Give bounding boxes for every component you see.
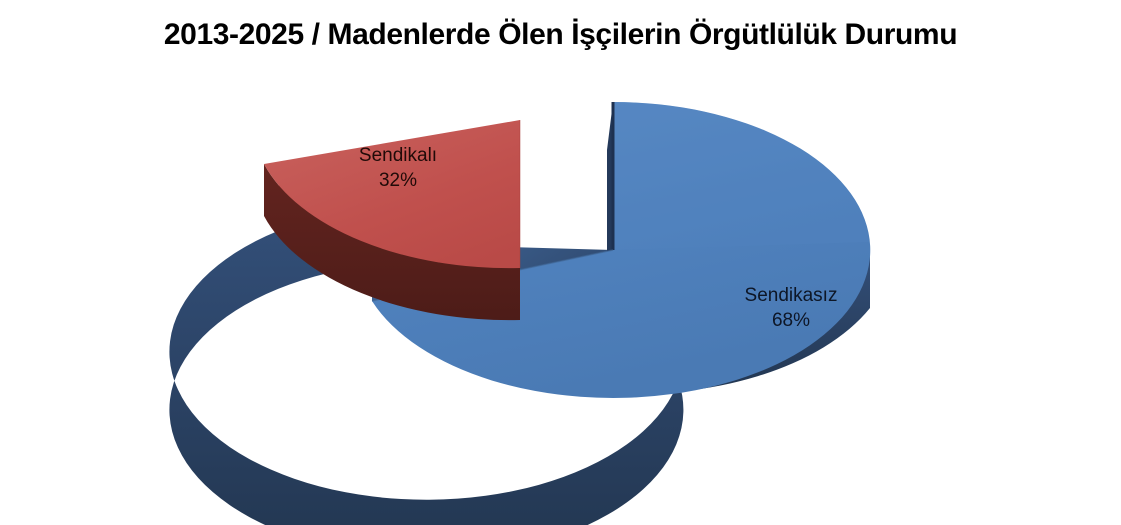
slice-label-sendikasiz-name: Sendikasız xyxy=(688,283,894,308)
pie-chart: 2013-2025 / Madenlerde Ölen İşçilerin Ör… xyxy=(0,0,1121,525)
slice-label-sendikasiz: Sendikasız 68% xyxy=(688,283,894,333)
pie-graphic xyxy=(0,0,1121,525)
slice-label-sendikasiz-percent: 68% xyxy=(688,308,894,333)
slice-label-sendikali: Sendikalı 32% xyxy=(300,143,496,193)
slice-label-sendikali-percent: 32% xyxy=(300,168,496,193)
slice-label-sendikali-name: Sendikalı xyxy=(300,143,496,168)
